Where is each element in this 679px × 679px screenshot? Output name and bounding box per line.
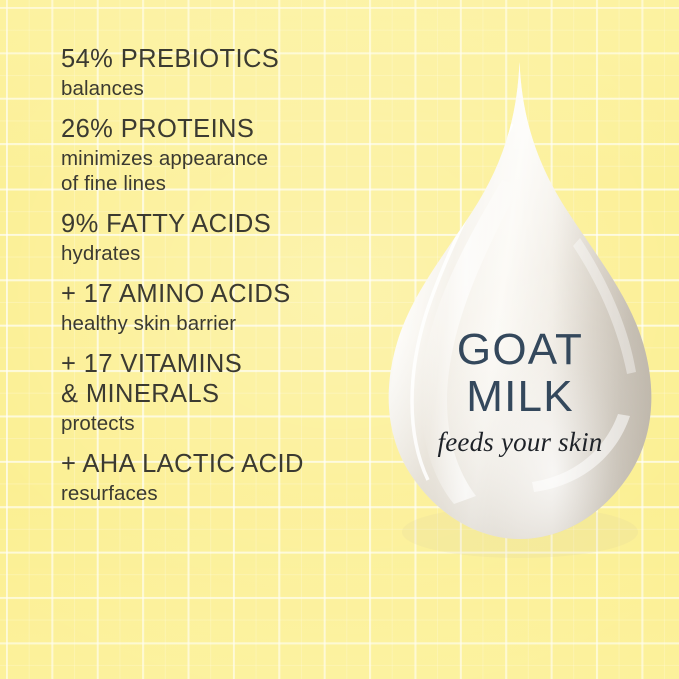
ingredient-heading: 54% PREBIOTICS bbox=[61, 44, 391, 74]
ingredient-heading: + 17 AMINO ACIDS bbox=[61, 279, 391, 309]
infographic-canvas: 54% PREBIOTICS balances 26% PROTEINS min… bbox=[0, 0, 679, 679]
ingredient-heading: 26% PROTEINS bbox=[61, 114, 391, 144]
ingredient-benefit: hydrates bbox=[61, 241, 391, 266]
ingredient-item-prebiotics: 54% PREBIOTICS balances bbox=[61, 44, 391, 101]
ingredient-list: 54% PREBIOTICS balances 26% PROTEINS min… bbox=[61, 44, 391, 519]
ingredient-item-aha-lactic-acid: + AHA LACTIC ACID resurfaces bbox=[61, 449, 391, 506]
ingredient-benefit: minimizes appearance of fine lines bbox=[61, 146, 391, 196]
ingredient-benefit: healthy skin barrier bbox=[61, 311, 391, 336]
ingredient-heading: + 17 VITAMINS & MINERALS bbox=[61, 349, 391, 409]
ingredient-item-proteins: 26% PROTEINS minimizes appearance of fin… bbox=[61, 114, 391, 196]
ingredient-item-amino-acids: + 17 AMINO ACIDS healthy skin barrier bbox=[61, 279, 391, 336]
ingredient-benefit: protects bbox=[61, 411, 391, 436]
droplet-icon bbox=[384, 62, 656, 548]
ingredient-benefit: resurfaces bbox=[61, 481, 391, 506]
ingredient-benefit: balances bbox=[61, 76, 391, 101]
milk-droplet-graphic: GOAT MILK feeds your skin bbox=[384, 62, 656, 548]
ingredient-item-fatty-acids: 9% FATTY ACIDS hydrates bbox=[61, 209, 391, 266]
ingredient-heading: 9% FATTY ACIDS bbox=[61, 209, 391, 239]
ingredient-item-vitamins-minerals: + 17 VITAMINS & MINERALS protects bbox=[61, 349, 391, 436]
ingredient-heading: + AHA LACTIC ACID bbox=[61, 449, 391, 479]
